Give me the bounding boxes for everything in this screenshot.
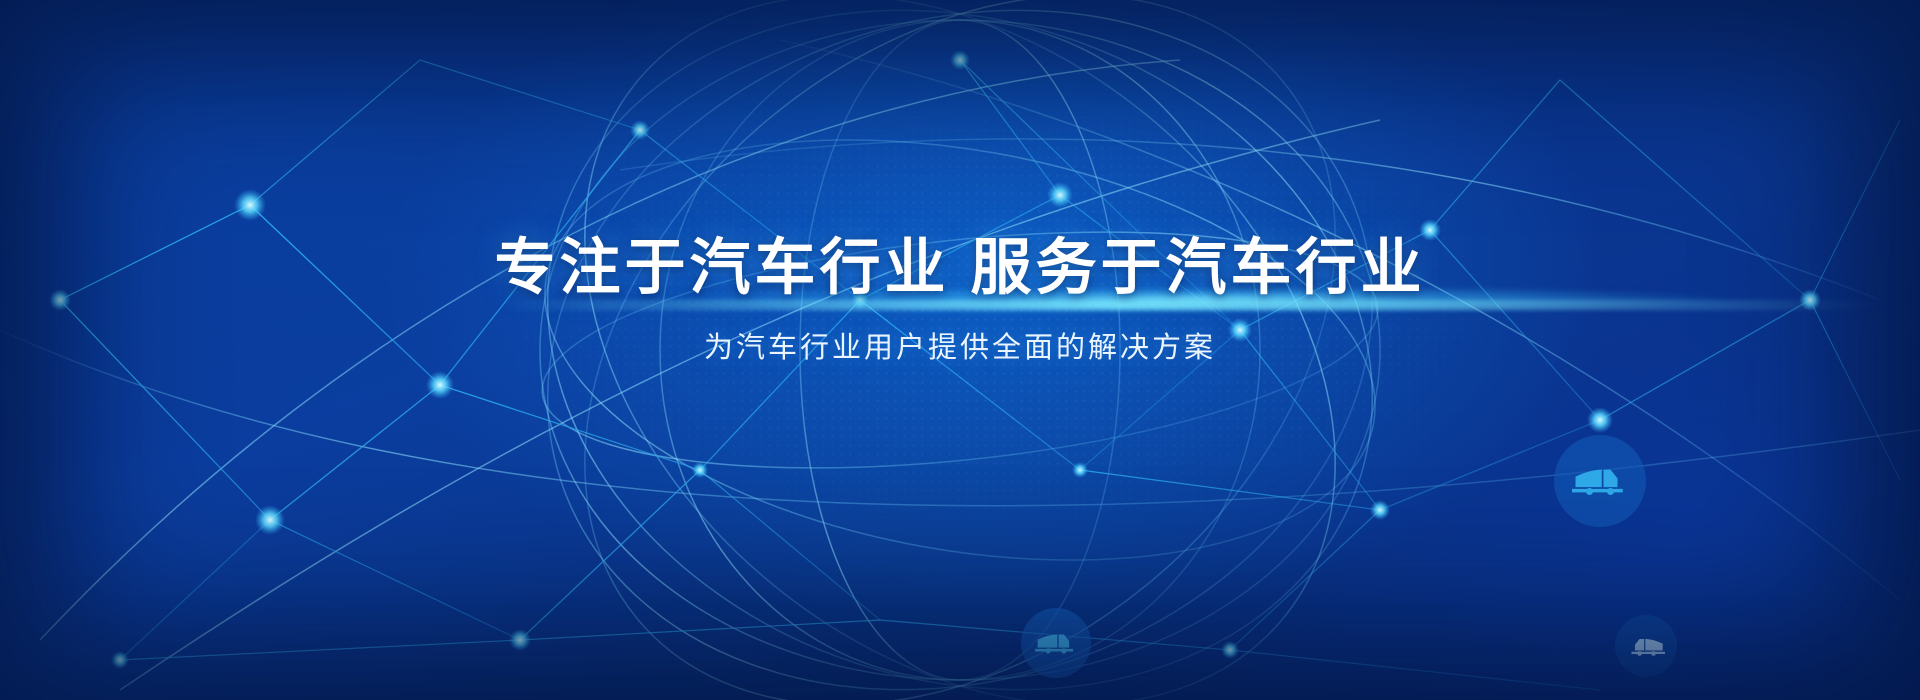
truck-icon <box>1628 635 1665 658</box>
hero-banner: 专注于汽车行业 服务于汽车行业 为汽车行业用户提供全面的解决方案 <box>0 0 1920 700</box>
page-subtitle: 为汽车行业用户提供全面的解决方案 <box>0 324 1920 366</box>
truck-badge-bottom-right <box>1615 615 1677 677</box>
banner-text-block: 专注于汽车行业 服务于汽车行业 为汽车行业用户提供全面的解决方案 <box>0 232 1920 366</box>
truck-badge-center <box>1021 608 1091 678</box>
truck-badge-right <box>1554 435 1646 527</box>
page-title: 专注于汽车行业 服务于汽车行业 <box>0 232 1920 302</box>
truck-icon <box>1035 630 1077 656</box>
truck-icon <box>1572 464 1628 498</box>
